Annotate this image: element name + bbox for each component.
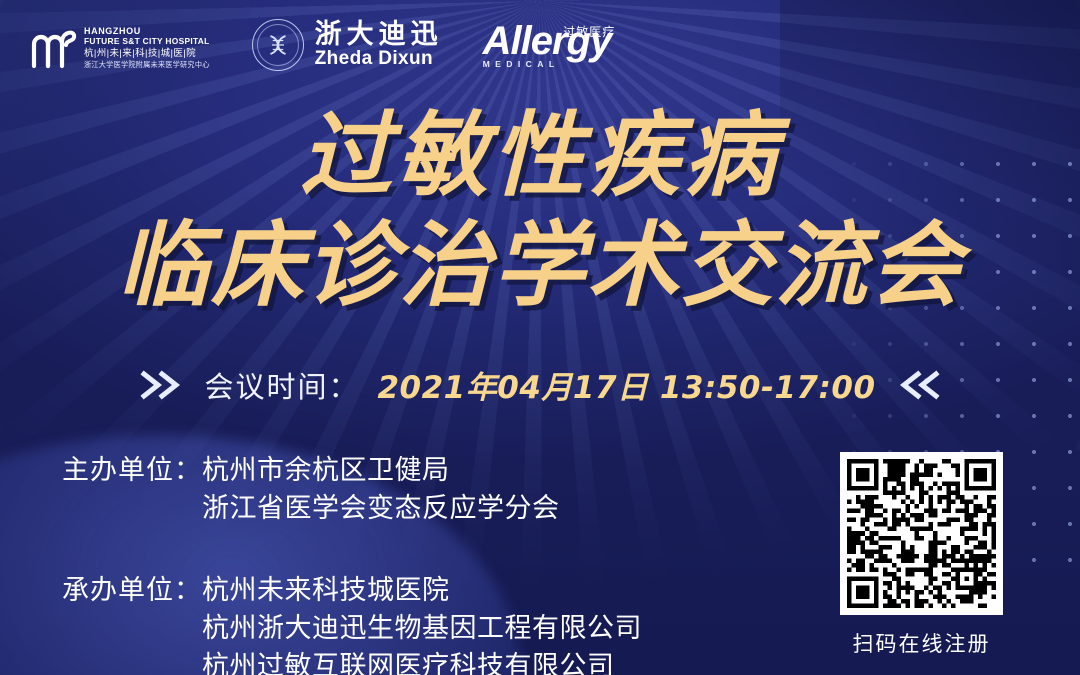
zheda-dixun-seal-icon xyxy=(252,19,304,71)
double-chevron-left-icon xyxy=(894,369,942,401)
zheda-dixun-cn-name: 浙大迪迅 xyxy=(315,21,443,49)
co-organizer-item: 杭州浙大迪迅生物基因工程有限公司 xyxy=(202,610,642,648)
meeting-time-row: 会议时间： 2021年04月17日 13:50-17:00 xyxy=(0,362,1080,407)
organizer-section: 主办单位： 杭州市余杭区卫健局 浙江省医学会变态反应学分会 承办单位： 杭州未来… xyxy=(62,452,822,675)
co-organizer-label: 承办单位： xyxy=(62,572,202,675)
logo-hangzhou-future-city-hospital: HANGZHOU FUTURE S&T CITY HOSPITAL 杭|州|未|… xyxy=(28,20,210,70)
co-organizer-item: 杭州未来科技城医院 xyxy=(202,572,642,610)
host-organizer-item: 杭州市余杭区卫健局 xyxy=(202,452,560,490)
host-organizer-list: 杭州市余杭区卫健局 浙江省医学会变态反应学分会 xyxy=(202,452,560,528)
host-organizer-label: 主办单位： xyxy=(62,452,202,528)
qr-code[interactable] xyxy=(840,452,1003,615)
zheda-dixun-en-name: Zheda Dixun xyxy=(315,48,443,69)
co-organizer-block: 承办单位： 杭州未来科技城医院 杭州浙大迪迅生物基因工程有限公司 杭州过敏互联网… xyxy=(62,572,822,675)
co-organizer-item: 杭州过敏互联网医疗科技有限公司 xyxy=(202,648,642,675)
hangzhou-hospital-mark-icon xyxy=(28,24,80,70)
meeting-time-value: 2021年04月17日 13:50-17:00 xyxy=(377,362,875,407)
title-line-2: 临床诊治学术交流会 xyxy=(0,216,1080,316)
registration-qr-block: 扫码在线注册 xyxy=(840,452,1003,658)
hangzhou-logo-en-line2: FUTURE S&T CITY HOSPITAL xyxy=(84,36,210,46)
zheda-dixun-wordmark: 浙大迪迅 Zheda Dixun xyxy=(315,21,443,69)
hangzhou-logo-cn-line2: 浙江大学医学院附属未来医学研究中心 xyxy=(84,60,210,70)
poster-title: 过敏性疾病 临床诊治学术交流会 xyxy=(0,106,1080,316)
logo-allergy-medical: Allergy MEDICAL 过敏医疗 xyxy=(483,21,612,69)
qr-caption: 扫码在线注册 xyxy=(840,628,1003,658)
double-chevron-right-icon xyxy=(138,369,186,401)
co-organizer-list: 杭州未来科技城医院 杭州浙大迪迅生物基因工程有限公司 杭州过敏互联网医疗科技有限… xyxy=(202,572,642,675)
hangzhou-hospital-wordmark: HANGZHOU FUTURE S&T CITY HOSPITAL 杭|州|未|… xyxy=(84,26,210,70)
logo-zheda-dixun: 浙大迪迅 Zheda Dixun xyxy=(252,19,443,71)
title-line-1: 过敏性疾病 xyxy=(0,106,1080,206)
allergy-cn-text: 过敏医疗 xyxy=(563,23,615,40)
host-organizer-item: 浙江省医学会变态反应学分会 xyxy=(202,490,560,528)
conference-poster: HANGZHOU FUTURE S&T CITY HOSPITAL 杭|州|未|… xyxy=(0,0,1080,675)
hangzhou-logo-en-line1: HANGZHOU xyxy=(84,26,210,36)
qr-code-image xyxy=(847,459,996,608)
hangzhou-logo-cn-line1: 杭|州|未|来|科|技|城|医|院 xyxy=(84,48,210,60)
logo-row: HANGZHOU FUTURE S&T CITY HOSPITAL 杭|州|未|… xyxy=(0,8,1080,82)
host-organizer-block: 主办单位： 杭州市余杭区卫健局 浙江省医学会变态反应学分会 xyxy=(62,452,822,528)
meeting-time-label: 会议时间： xyxy=(204,364,359,406)
